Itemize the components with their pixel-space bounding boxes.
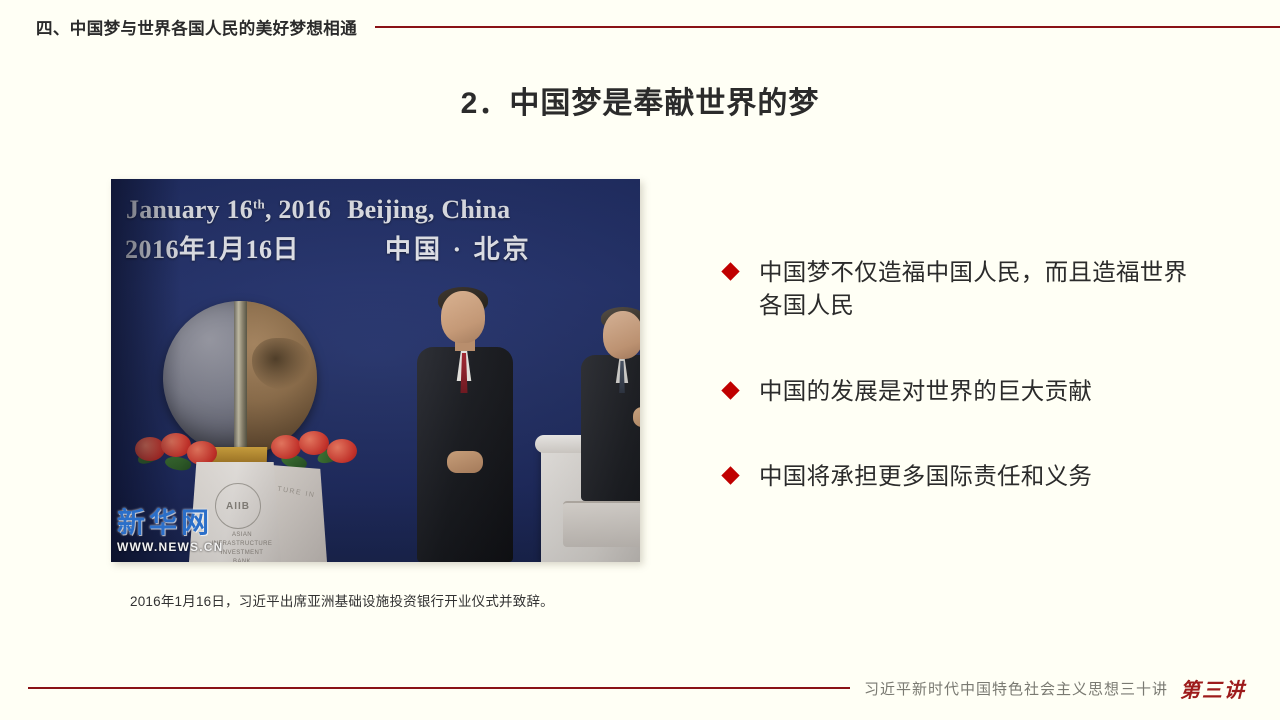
- person-primary-head: [441, 291, 485, 343]
- person-secondary: [581, 311, 640, 501]
- page-title: 2．中国梦是奉献世界的梦: [0, 78, 1280, 122]
- banner-cn-date: 2016年1月16日: [125, 229, 385, 266]
- bullet-list: 中国梦不仅造福中国人民，而且造福世界各国人民 中国的发展是对世界的巨大贡献 中国…: [724, 256, 1194, 493]
- banner-english-line: January 16th, 2016Beijing, China: [126, 195, 510, 225]
- bullet-text: 中国的发展是对世界的巨大贡献: [759, 375, 1092, 408]
- bullet-text: 中国将承担更多国际责任和义务: [759, 460, 1092, 493]
- banner-cn-place: 中国 · 北京: [385, 229, 532, 266]
- diamond-bullet-icon: [721, 381, 739, 399]
- slide-footer: 习近平新时代中国特色社会主义思想三十讲 第三讲: [0, 674, 1280, 702]
- person-secondary-suit: [581, 355, 640, 501]
- xinhua-watermark-name: 新华网: [117, 510, 287, 538]
- diamond-bullet-icon: [721, 262, 739, 280]
- xinhua-watermark-url: WWW.NEWS.CN: [117, 540, 287, 554]
- xinhua-watermark: 新华网 WWW.NEWS.CN: [117, 510, 287, 554]
- banner-chinese-line: 2016年1月16日 中国 · 北京: [125, 229, 585, 266]
- person-secondary-head: [603, 311, 640, 359]
- photo-caption: 2016年1月16日，习近平出席亚洲基础设施投资银行开业仪式并致辞。: [130, 590, 554, 610]
- banner-en-ordinal: th: [253, 196, 265, 211]
- photo-image: January 16th, 2016Beijing, China 2016年1月…: [111, 179, 640, 562]
- section-label: 四、中国梦与世界各国人民的美好梦想相通: [36, 15, 357, 39]
- footer-lecture-badge: 第三讲: [1180, 674, 1246, 703]
- bullet-text: 中国梦不仅造福中国人民，而且造福世界各国人民: [759, 256, 1194, 323]
- banner-en-city: Beijing, China: [347, 195, 510, 224]
- footer-series-title: 习近平新时代中国特色社会主义思想三十讲: [864, 678, 1168, 699]
- header-divider-line: [375, 26, 1280, 28]
- person-primary: [411, 291, 519, 562]
- slide-header: 四、中国梦与世界各国人民的美好梦想相通: [0, 14, 1280, 40]
- diamond-bullet-icon: [721, 466, 739, 484]
- banner-en-date-suffix: , 2016: [265, 195, 331, 224]
- podium-shelf: [563, 501, 640, 547]
- footer-divider-line: [28, 687, 850, 689]
- list-item: 中国梦不仅造福中国人民，而且造福世界各国人民: [724, 256, 1194, 323]
- photo-figure: January 16th, 2016Beijing, China 2016年1月…: [111, 179, 640, 562]
- slide-root: 四、中国梦与世界各国人民的美好梦想相通 2．中国梦是奉献世界的梦 January…: [0, 0, 1280, 720]
- person-primary-hands: [447, 451, 483, 473]
- list-item: 中国的发展是对世界的巨大贡献: [724, 375, 1194, 408]
- list-item: 中国将承担更多国际责任和义务: [724, 460, 1194, 493]
- banner-en-date-prefix: January 16: [126, 195, 253, 224]
